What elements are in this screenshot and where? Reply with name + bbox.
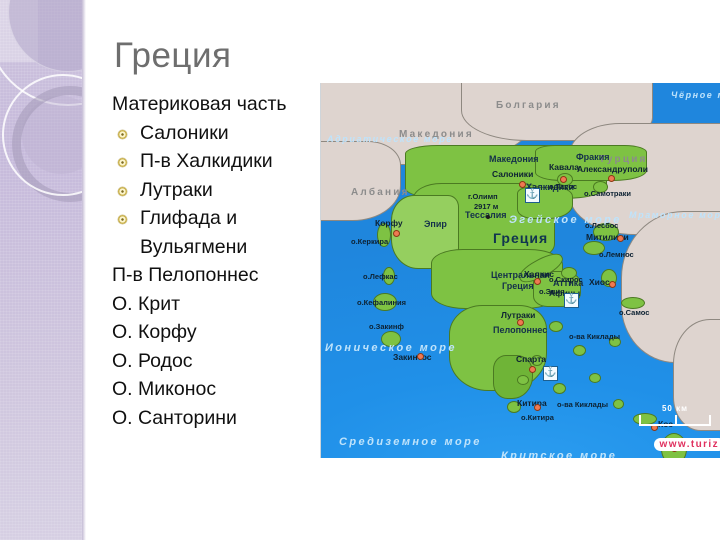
map-label-city: Салоники — [492, 170, 533, 179]
page-title: Греция — [114, 36, 231, 76]
map-label-island: о.Скирос — [549, 276, 583, 284]
bullet-icon — [118, 130, 127, 139]
list-item-label: Глифада и — [140, 207, 237, 229]
map-label-island: о.Лемнос — [599, 251, 634, 259]
band-texture — [0, 0, 82, 540]
map-city-marker — [609, 281, 616, 288]
map-label-island: о.Тасос — [549, 183, 577, 191]
map-city-marker — [519, 181, 526, 188]
map-city-marker — [617, 235, 624, 242]
bullet-icon — [118, 215, 127, 224]
map-label-sea: Мраморное море — [629, 211, 720, 220]
list-item-label: О. Родос — [112, 350, 193, 372]
map-label-city: Лутраки — [501, 311, 535, 320]
map-label-sea: Средиземное море — [339, 437, 482, 448]
list-item-label: О. Крит — [112, 293, 180, 315]
map-label-island: о.Лефкас — [363, 273, 398, 281]
text-line: О. Корфу — [112, 318, 327, 347]
land-albania — [320, 141, 401, 221]
band-top-square — [0, 0, 38, 62]
map-label-city: Александруполи — [577, 165, 648, 174]
map-label-city: Закинтос — [393, 353, 432, 362]
map-label-island: о.Самотраки — [584, 190, 631, 198]
map-label-island: о-ва Киклады — [557, 401, 608, 409]
map-watermark: www.turiz — [654, 438, 720, 451]
list-item-label: О. Санторини — [112, 407, 237, 429]
text-line: Материковая часть — [112, 90, 327, 119]
band-edge-shadow — [82, 0, 86, 540]
list-item: Салоники — [112, 119, 327, 148]
anchor-icon: ⚓ — [543, 366, 558, 381]
text-line: О. Родос — [112, 347, 327, 376]
map-label-island: о.Китира — [521, 414, 554, 422]
text-line: О. Санторини — [112, 404, 327, 433]
text-line: О. Крит — [112, 290, 327, 319]
bullet-icon — [118, 158, 127, 167]
list-item-label: П-в Пелопоннес — [112, 264, 258, 286]
map-city-marker — [529, 366, 536, 373]
map-label-country: Албания — [351, 188, 410, 198]
map-city-marker — [534, 278, 541, 285]
map-label-city: Китира — [517, 399, 547, 408]
island-cyclades-cluster-b — [573, 345, 586, 356]
list-item-label: Материковая часть — [112, 93, 287, 115]
map-label-sea: Ионическое море — [325, 343, 457, 354]
content-list: Материковая частьСалоникиП-в ХалкидикиЛу… — [112, 90, 327, 432]
map-label-sea: Чёрное море — [671, 91, 720, 100]
island-cyclades-cluster-f — [517, 375, 529, 385]
map-label-region: Фракия — [576, 153, 609, 162]
map-city-marker — [608, 175, 615, 182]
list-item-label: О. Миконос — [112, 378, 216, 400]
map-label-peak-altitude: 2917 м — [474, 203, 498, 211]
map-label-island: о.Лесбос — [585, 222, 618, 230]
map-label-peak: г.Олимп — [468, 193, 498, 201]
list-item: П-в Халкидики — [112, 147, 327, 176]
map-label-sea: Адриатическое море — [327, 135, 453, 144]
list-item: Лутраки — [112, 176, 327, 205]
map-scale-bar: 50 км — [639, 404, 711, 426]
scale-bar-graphic — [639, 415, 711, 426]
map-label-island: о.Самос — [619, 309, 649, 317]
map-label-region: Эпир — [424, 220, 447, 229]
map-city-marker — [393, 230, 400, 237]
map-label-city: Хиос — [589, 278, 610, 287]
map-city-marker — [517, 319, 524, 326]
map-label-island: о.Кефалиния — [357, 299, 406, 307]
greece-map-image: БолгарияТурцияМакедонияАлбанияЧёрное мор… — [320, 83, 720, 458]
island-cyclades-cluster-e — [553, 383, 566, 394]
map-label-island: о-ва Киклады — [569, 333, 620, 341]
list-item-label: Вульягмени — [140, 236, 247, 258]
map-label-city: Корфу — [375, 219, 403, 228]
list-item-label: О. Корфу — [112, 321, 197, 343]
map-label-island: о.Керкира — [351, 238, 388, 246]
map-label-region: Греция — [502, 282, 534, 291]
map-label-region: Пелопоннес — [493, 326, 547, 335]
list-item: Глифада и — [112, 204, 327, 233]
anchor-icon: ⚓ — [564, 293, 579, 308]
island-dodecanese-cluster — [613, 399, 624, 409]
map-peak-marker — [486, 215, 490, 219]
map-label-sea: Критское море — [501, 451, 617, 458]
map-label-city: Кавала — [549, 163, 579, 172]
map-label-region: Македония — [489, 155, 539, 164]
island-cyclades-cluster-a — [549, 321, 563, 332]
text-line: П-в Пелопоннес — [112, 261, 327, 290]
map-label-country: Болгария — [496, 101, 561, 111]
decorative-side-band — [0, 0, 82, 540]
map-label-island: о.Эвия — [539, 288, 565, 296]
map-label-city: Спарта — [516, 355, 546, 364]
map-city-marker — [417, 353, 424, 360]
text-line: Вульягмени — [112, 233, 327, 262]
map-label-region: Греция — [493, 231, 548, 245]
scale-label: 50 км — [639, 404, 711, 413]
map-city-marker — [534, 404, 541, 411]
text-line: О. Миконос — [112, 375, 327, 404]
list-item-label: Салоники — [140, 122, 229, 144]
island-cyclades-cluster-d — [589, 373, 601, 383]
list-item-label: Лутраки — [140, 179, 213, 201]
bullet-icon — [118, 187, 127, 196]
anchor-icon: ⚓ — [525, 188, 540, 203]
map-label-island: о.Закинф — [369, 323, 404, 331]
list-item-label: П-в Халкидики — [140, 150, 273, 172]
